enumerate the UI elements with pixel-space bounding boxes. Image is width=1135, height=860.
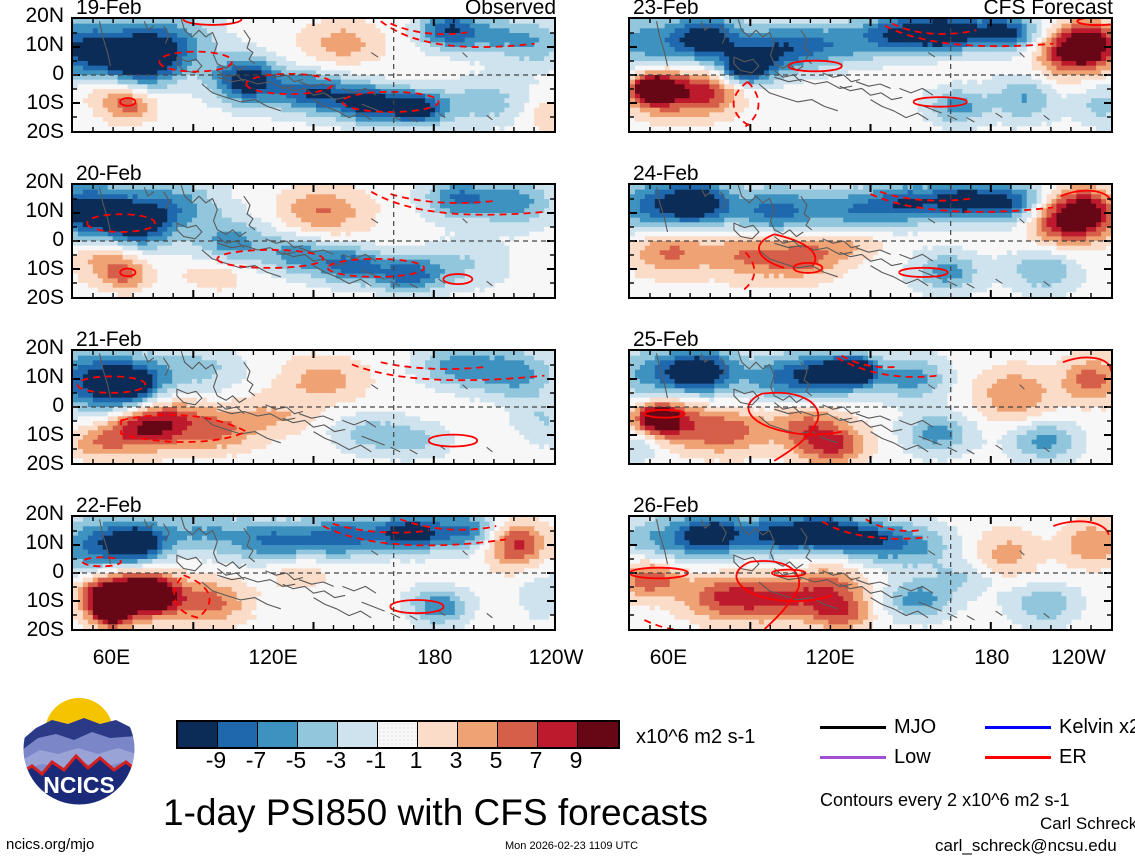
legend-swatch-line — [985, 756, 1051, 759]
x-axis-tick-label: 120W — [1051, 646, 1135, 670]
colorbar-tick-label: 9 — [550, 747, 602, 774]
y-axis-tick-label: 20N — [0, 336, 64, 360]
map-plot-area — [628, 17, 1113, 133]
y-axis-tick-label: 10N — [0, 531, 64, 555]
colorbar-swatch — [578, 722, 618, 747]
x-axis-tick-label: 60E — [623, 646, 713, 670]
ncics-logo-svg: NCICS — [22, 692, 136, 806]
author-name: Carl Schreck — [1040, 814, 1135, 834]
main-title: 1-day PSI850 with CFS forecasts — [163, 792, 708, 834]
psi850-field — [630, 19, 1111, 131]
x-axis-tick-label: 120E — [228, 646, 318, 670]
x-axis-tick-label: 180 — [390, 646, 480, 670]
y-axis-tick-label: 10S — [0, 257, 64, 281]
x-axis-tick-label: 60E — [66, 646, 156, 670]
map-plot-area — [628, 349, 1113, 465]
y-axis-tick-label: 20S — [0, 120, 64, 144]
colorbar-swatch — [418, 722, 458, 747]
y-axis-tick-label: 20N — [0, 170, 64, 194]
y-axis-tick-label: 0 — [0, 62, 64, 86]
colorbar-swatch — [538, 722, 578, 747]
y-axis-tick-label: 10N — [0, 199, 64, 223]
colorbar-swatch — [338, 722, 378, 747]
psi850-field — [630, 517, 1111, 629]
ncics-logo: NCICS — [22, 692, 136, 806]
legend-label: Kelvin x2 — [1059, 716, 1135, 739]
x-axis-tick-label: 120W — [511, 646, 601, 670]
legend-item-er: ER — [985, 746, 1087, 769]
legend-label: MJO — [894, 716, 936, 739]
legend-label: Low — [894, 746, 931, 769]
legend-item-kelvin-x2: Kelvin x2 — [985, 716, 1135, 739]
colorbar-swatch — [498, 722, 538, 747]
legend-swatch-line — [985, 726, 1051, 729]
map-plot-area — [628, 515, 1113, 631]
y-axis-tick-label: 10S — [0, 589, 64, 613]
colorbar-swatch — [458, 722, 498, 747]
map-plot-area — [71, 349, 556, 465]
legend-swatch-line — [820, 726, 886, 729]
x-axis-tick-label: 180 — [947, 646, 1037, 670]
map-plot-area — [71, 17, 556, 133]
psi850-field — [73, 185, 554, 297]
legend-item-mjo: MJO — [820, 716, 936, 739]
y-axis-tick-label: 10S — [0, 423, 64, 447]
y-axis-tick-label: 20N — [0, 4, 64, 28]
x-axis-tick-label: 120E — [785, 646, 875, 670]
map-plot-area — [628, 183, 1113, 299]
colorbar-swatch — [298, 722, 338, 747]
psi850-field — [630, 351, 1111, 463]
legend-label: ER — [1059, 746, 1087, 769]
y-axis-tick-label: 20S — [0, 618, 64, 642]
colorbar-swatch — [378, 722, 418, 747]
colorbar — [176, 720, 620, 749]
colorbar-swatch — [258, 722, 298, 747]
contour-interval-note: Contours every 2 x10^6 m2 s-1 — [820, 790, 1070, 811]
psi850-field — [73, 351, 554, 463]
legend-swatch-line — [820, 756, 886, 759]
y-axis-tick-label: 0 — [0, 228, 64, 252]
author-email: carl_schreck@ncsu.edu — [935, 836, 1117, 856]
map-plot-area — [71, 183, 556, 299]
map-plot-area — [71, 515, 556, 631]
psi850-field — [630, 185, 1111, 297]
legend-item-low: Low — [820, 746, 931, 769]
site-url: ncics.org/mjo — [6, 836, 94, 853]
y-axis-tick-label: 20S — [0, 286, 64, 310]
psi850-field — [73, 19, 554, 131]
colorbar-swatch — [178, 722, 218, 747]
colorbar-units-label: x10^6 m2 s-1 — [636, 726, 755, 749]
y-axis-tick-label: 0 — [0, 394, 64, 418]
y-axis-tick-label: 0 — [0, 560, 64, 584]
y-axis-tick-label: 20S — [0, 452, 64, 476]
colorbar-swatch — [218, 722, 258, 747]
y-axis-tick-label: 10S — [0, 91, 64, 115]
ncics-logo-text: NCICS — [43, 772, 115, 798]
y-axis-tick-label: 20N — [0, 502, 64, 526]
generation-timestamp: Mon 2026-02-23 1109 UTC — [505, 840, 638, 852]
y-axis-tick-label: 10N — [0, 365, 64, 389]
psi850-field — [73, 517, 554, 629]
y-axis-tick-label: 10N — [0, 33, 64, 57]
